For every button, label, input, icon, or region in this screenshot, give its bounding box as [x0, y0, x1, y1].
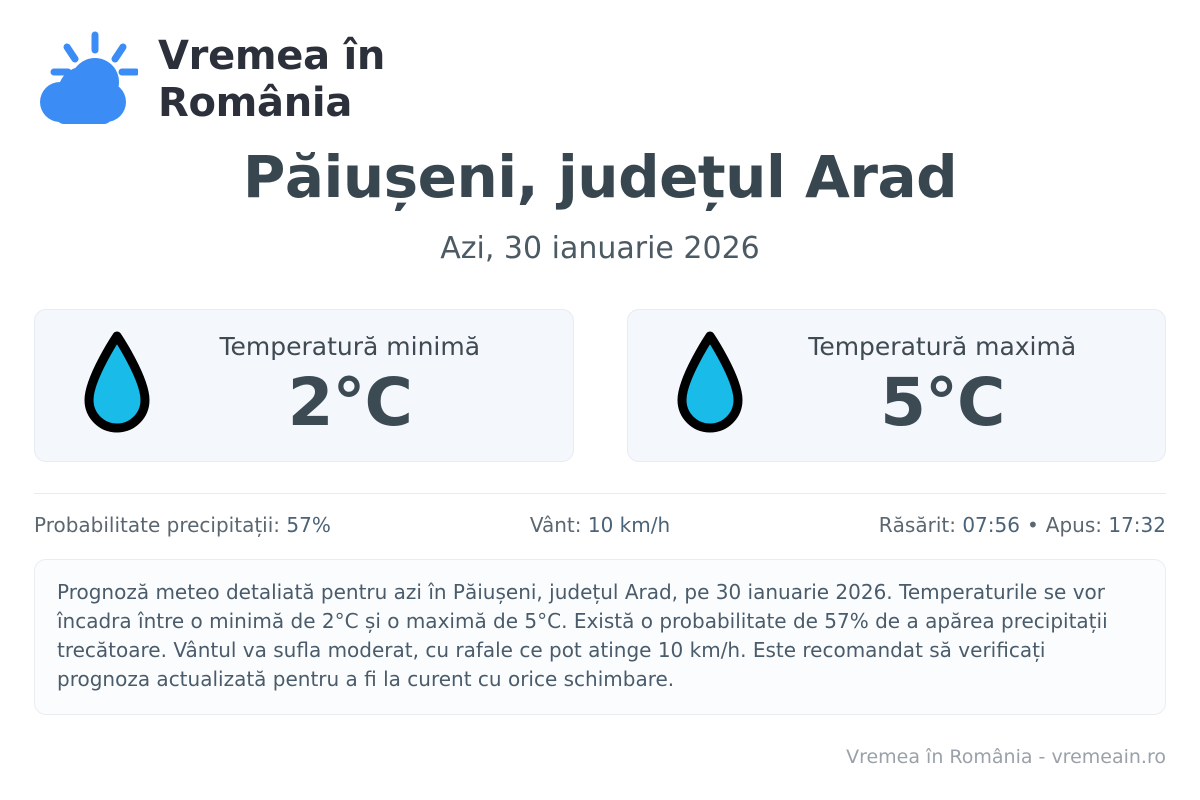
sunrise-value: 07:56: [962, 513, 1020, 537]
date-subtitle: Azi, 30 ianuarie 2026: [34, 230, 1166, 268]
min-temperature-value: 2°C: [153, 365, 547, 441]
max-temperature-label: Temperatură maximă: [746, 331, 1140, 363]
wind-label: Vânt:: [530, 513, 588, 537]
forecast-description: Prognoză meteo detaliată pentru azi în P…: [34, 559, 1166, 715]
precipitation-value: 57%: [286, 513, 330, 537]
title-block: Păiușeni, județul Arad Azi, 30 ianuarie …: [34, 144, 1166, 268]
sun-times-separator: •: [1020, 513, 1046, 537]
weather-page: Vremea în România Păiușeni, județul Arad…: [0, 0, 1200, 800]
sunset-value: 17:32: [1108, 513, 1166, 537]
max-temperature-text: Temperatură maximă 5°C: [746, 331, 1158, 441]
sunset-label: Apus:: [1046, 513, 1109, 537]
max-temperature-card: Temperatură maximă 5°C: [627, 309, 1167, 462]
brand-name: Vremea în România: [158, 33, 385, 127]
weather-stats-row: Probabilitate precipitații: 57% Vânt: 10…: [34, 511, 1166, 539]
water-drop-icon: [81, 330, 153, 442]
wind-stat: Vânt: 10 km/h: [411, 511, 788, 539]
precipitation-stat: Probabilitate precipitații: 57%: [34, 511, 411, 539]
water-drop-icon: [674, 330, 746, 442]
sunrise-label: Răsărit:: [879, 513, 963, 537]
min-temperature-text: Temperatură minimă 2°C: [153, 331, 565, 441]
sun-behind-cloud-icon: [34, 30, 138, 130]
page-title: Păiușeni, județul Arad: [34, 144, 1166, 210]
min-temperature-card: Temperatură minimă 2°C: [34, 309, 574, 462]
wind-value: 10 km/h: [588, 513, 670, 537]
max-temperature-value: 5°C: [746, 365, 1140, 441]
section-divider: [34, 493, 1166, 494]
sun-times-stat: Răsărit: 07:56•Apus: 17:32: [789, 511, 1166, 539]
site-brand[interactable]: Vremea în România: [34, 0, 1166, 112]
site-footer: Vremea în România - vremeain.ro: [846, 745, 1166, 769]
min-temperature-label: Temperatură minimă: [153, 331, 547, 363]
precipitation-label: Probabilitate precipitații:: [34, 513, 286, 537]
temperature-cards: Temperatură minimă 2°C Temperatură maxim…: [34, 309, 1166, 462]
